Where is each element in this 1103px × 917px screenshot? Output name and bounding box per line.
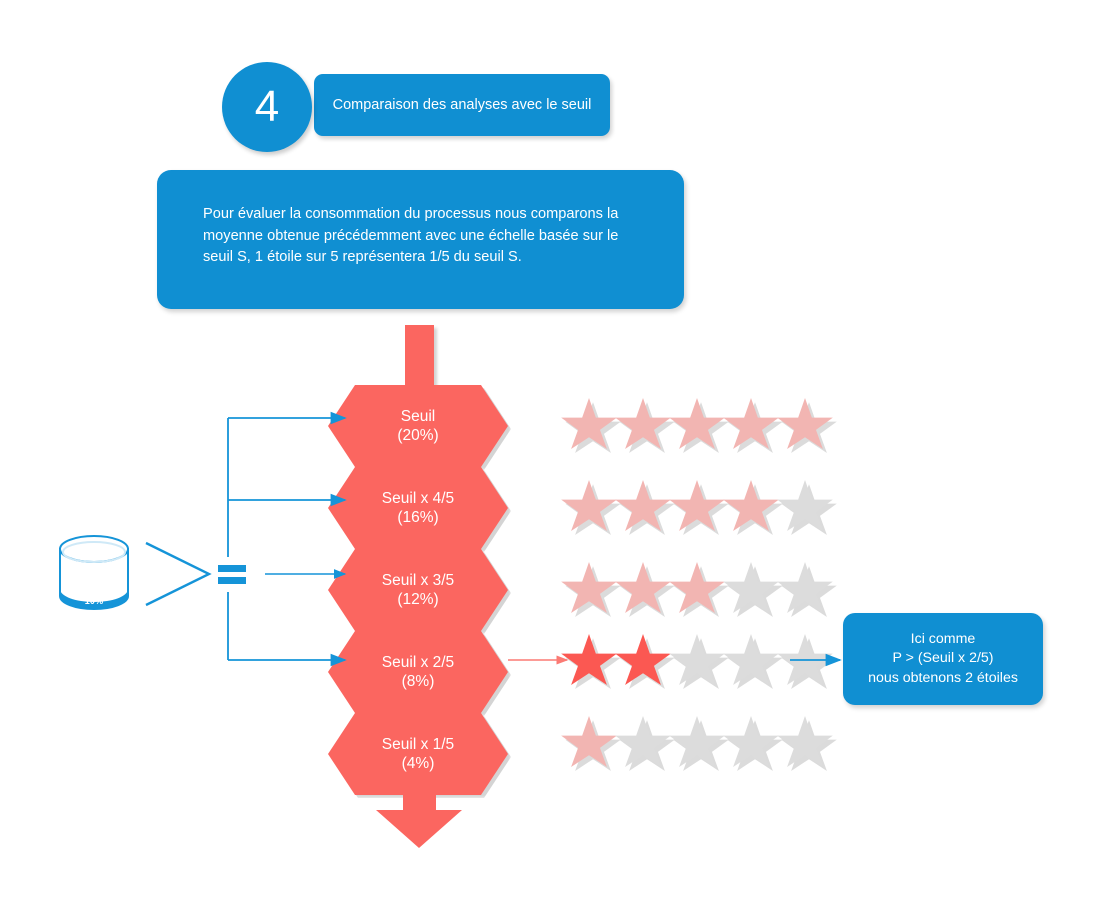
funnel-level-1[interactable]: Seuil (20%) xyxy=(328,385,508,467)
step-number-badge: 4 xyxy=(222,62,312,152)
diagram-canvas: 4 Comparaison des analyses avec le seuil… xyxy=(0,0,1103,917)
funnel-level-percent: (12%) xyxy=(397,590,438,609)
funnel-bottom-arrow-icon xyxy=(376,810,462,848)
callout-line-3: nous obtenons 2 étoiles xyxy=(868,669,1018,689)
funnel-level-label: Seuil x 2/5 xyxy=(382,653,454,672)
funnel-level-percent: (4%) xyxy=(402,754,435,773)
step-title: Comparaison des analyses avec le seuil xyxy=(314,74,610,136)
funnel-level-label: Seuil xyxy=(401,407,435,426)
database-value-label: 10% xyxy=(58,596,130,606)
connector-overlay xyxy=(0,0,1103,917)
funnel-level-label: Seuil x 4/5 xyxy=(382,489,454,508)
funnel-level-label: Seuil x 1/5 xyxy=(382,735,454,754)
funnel-level-4[interactable]: Seuil x 2/5 (8%) xyxy=(328,631,508,713)
callout-line-2: P > (Seuil x 2/5) xyxy=(892,649,993,669)
callout-line-1: Ici comme xyxy=(911,630,976,650)
callout-box: Ici comme P > (Seuil x 2/5) nous obtenon… xyxy=(843,613,1043,705)
funnel-level-2[interactable]: Seuil x 4/5 (16%) xyxy=(328,467,508,549)
funnel-level-percent: (20%) xyxy=(397,426,438,445)
funnel-level-percent: (8%) xyxy=(402,672,435,691)
funnel-level-percent: (16%) xyxy=(397,508,438,527)
equals-icon xyxy=(218,565,246,584)
funnel-bottom-arrow-shaft xyxy=(403,778,436,814)
greater-than-icon xyxy=(146,543,209,605)
funnel-level-3[interactable]: Seuil x 3/5 (12%) xyxy=(328,549,508,631)
funnel-level-label: Seuil x 3/5 xyxy=(382,571,454,590)
description-panel: Pour évaluer la consommation du processu… xyxy=(157,170,684,309)
funnel-top-arrow-icon xyxy=(405,325,434,387)
